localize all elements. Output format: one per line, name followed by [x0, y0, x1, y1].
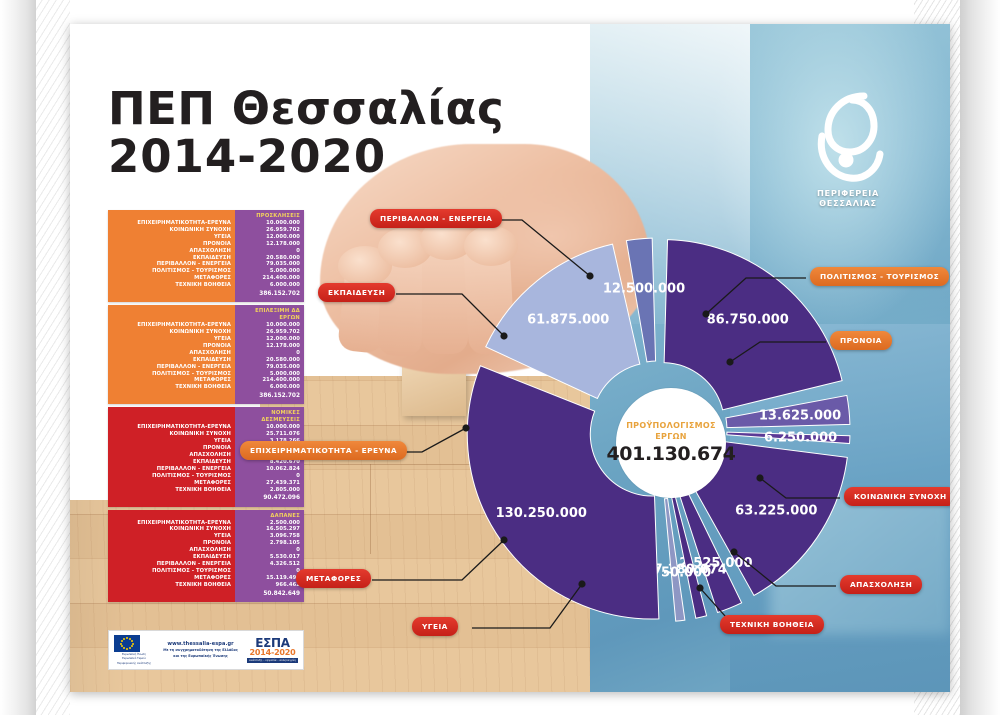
table-row-value: 10.000.000 — [238, 322, 300, 329]
table-header-spacer — [111, 513, 231, 520]
table-row-value: 25.711.076 — [238, 431, 300, 438]
region-logo-caption: ΠΕΡΙΦΕΡΕΙΑ ΘΕΣΣΑΛΙΑΣ — [788, 188, 908, 208]
callout-texniki-voitheia[interactable]: ΤΕΧΝΙΚΗ ΒΟΗΘΕΙΑ — [720, 615, 824, 634]
table-row-label: ΚΟΙΝΩΝΙΚΗ ΣΥΝΟΧΗ — [111, 526, 231, 533]
budget-table: ΕΠΙΧΕΙΡΗΜΑΤΙΚΟΤΗΤΑ-ΕΡΕΥΝΑΚΟΙΝΩΝΙΚΗ ΣΥΝΟΧ… — [108, 210, 304, 302]
eu-caption-1: Ευρωπαϊκή Ένωση — [114, 653, 154, 656]
table-value-column: ΕΠΙΛΕΞΙΜΗ ΔΔΕΡΓΩΝ10.000.00026.959.70212.… — [235, 305, 304, 404]
table-label-column: ΕΠΙΧΕΙΡΗΜΑΤΙΚΟΤΗΤΑ-ΕΡΕΥΝΑΚΟΙΝΩΝΙΚΗ ΣΥΝΟΧ… — [108, 407, 235, 506]
table-row-value: 0 — [238, 568, 300, 575]
table-row-label: ΜΕΤΑΦΟΡΕΣ — [111, 480, 231, 487]
table-label-column: ΕΠΙΧΕΙΡΗΜΑΤΙΚΟΤΗΤΑ-ΕΡΕΥΝΑΚΟΙΝΩΝΙΚΗ ΣΥΝΟΧ… — [108, 510, 235, 602]
callout-pronoia[interactable]: ΠΡΟΝΟΙΑ — [830, 331, 892, 350]
chart-center-hub: ΠΡΟΫΠΟΛΟΓΙΣΜΟΣ ΕΡΓΩΝ 401.130.674 — [616, 388, 726, 498]
table-row-value: 2.798.105 — [238, 540, 300, 547]
table-header-line2: ΕΡΓΩΝ — [238, 315, 300, 322]
table-row-label: ΠΟΛΙΤΙΣΜΟΣ - ΤΟΥΡΙΣΜΟΣ — [111, 268, 231, 275]
table-row-label: ΕΚΠΑΙΔΕΥΣΗ — [111, 554, 231, 561]
callout-apasxolisi[interactable]: ΑΠΑΣΧΟΛΗΣΗ — [840, 575, 922, 594]
poster-title: ΠΕΠ Θεσσαλίας 2014-2020 — [108, 86, 504, 181]
table-row-label: ΠΡΟΝΟΙΑ — [111, 540, 231, 547]
table-row-label: ΑΠΑΣΧΟΛΗΣΗ — [111, 452, 231, 459]
table-row-label: ΕΚΠΑΙΔΕΥΣΗ — [111, 357, 231, 364]
table-total-spacer — [111, 493, 231, 502]
center-label-line2: ΕΡΓΩΝ — [655, 432, 686, 443]
espa-logo: ΕΣΠΑ 2014-2020 ανάπτυξη - εργασία - αλλη… — [247, 637, 298, 663]
table-header-spacer — [111, 308, 231, 315]
eu-flag-star — [121, 640, 123, 642]
callout-epixeirimatikotita-erevna[interactable]: ΕΠΙΧΕΙΡΗΜΑΤΙΚΟΤΗΤΑ - ΕΡΕΥΝΑ — [240, 441, 407, 460]
table-header: ΔΑΠΑΝΕΣ — [238, 513, 300, 520]
table-row-value: 6.000.000 — [238, 282, 300, 289]
table-row-value: 16.505.297 — [238, 526, 300, 533]
table-row-label: ΕΚΠΑΙΔΕΥΣΗ — [111, 459, 231, 466]
table-row-value: 10.000.000 — [238, 220, 300, 227]
mat-left-hatch — [36, 0, 70, 715]
table-row-value: 20.580.000 — [238, 357, 300, 364]
table-row-label: ΕΠΙΧΕΙΡΗΜΑΤΙΚΟΤΗΤΑ-ΕΡΕΥΝΑ — [111, 322, 231, 329]
table-row-value: 12.178.000 — [238, 241, 300, 248]
table-row-label: ΠΕΡΙΒΑΛΛΟΝ - ΕΝΕΡΓΕΙΑ — [111, 261, 231, 268]
table-row-value: 214.400.000 — [238, 377, 300, 384]
espa-wordmark: ΕΣΠΑ — [247, 637, 298, 649]
table-row-label: ΑΠΑΣΧΟΛΗΣΗ — [111, 248, 231, 255]
table-row-label: ΕΚΠΑΙΔΕΥΣΗ — [111, 255, 231, 262]
table-row-label: ΠΟΛΙΤΙΣΜΟΣ - ΤΟΥΡΙΣΜΟΣ — [111, 371, 231, 378]
table-row-value: 214.400.000 — [238, 275, 300, 282]
table-total-value: 386.152.702 — [238, 391, 300, 400]
table-row-value: 26.959.702 — [238, 329, 300, 336]
table-row-value: 0 — [238, 350, 300, 357]
table-row-label: ΤΕΧΝΙΚΗ ΒΟΗΘΕΙΑ — [111, 384, 231, 391]
table-row-value: 5.000.000 — [238, 268, 300, 275]
pie-slice[interactable] — [467, 366, 659, 619]
table-row-label: ΠΟΛΙΤΙΣΜΟΣ - ΤΟΥΡΙΣΜΟΣ — [111, 568, 231, 575]
pie-slice-value: 13.625.000 — [759, 409, 841, 424]
table-row-value: 3.096.758 — [238, 533, 300, 540]
table-header: ΕΠΙΛΕΞΙΜΗ ΔΔ — [238, 308, 300, 315]
table-row-label: ΚΟΙΝΩΝΙΚΗ ΣΥΝΟΧΗ — [111, 227, 231, 234]
eu-flag-star — [123, 638, 125, 640]
callout-koinoniki-synoxi[interactable]: ΚΟΙΝΩΝΙΚΗ ΣΥΝΟΧΗ — [844, 487, 950, 506]
table-total-spacer — [111, 589, 231, 598]
mat-left-edge — [0, 0, 36, 715]
callout-ygeia[interactable]: ΥΓΕΙΑ — [412, 617, 458, 636]
budget-tables: ΕΠΙΧΕΙΡΗΜΑΤΙΚΟΤΗΤΑ-ΕΡΕΥΝΑΚΟΙΝΩΝΙΚΗ ΣΥΝΟΧ… — [108, 210, 304, 605]
wood-seam — [370, 464, 371, 554]
table-row-value: 10.000.000 — [238, 424, 300, 431]
table-row-label: ΠΕΡΙΒΑΛΛΟΝ - ΕΝΕΡΓΕΙΑ — [111, 561, 231, 568]
table-row-label: ΕΠΙΧΕΙΡΗΜΑΤΙΚΟΤΗΤΑ-ΕΡΕΥΝΑ — [111, 424, 231, 431]
pie-slice-value: 6.250.000 — [764, 431, 837, 446]
table-row-label: ΚΟΙΝΩΝΙΚΗ ΣΥΝΟΧΗ — [111, 329, 231, 336]
table-header-line2: ΔΕΣΜΕΥΣΕΙΣ — [238, 417, 300, 424]
pie-slice-value: 63.225.000 — [735, 504, 817, 519]
table-total-spacer — [111, 289, 231, 298]
table-row-label: ΜΕΤΑΦΟΡΕΣ — [111, 275, 231, 282]
table-row-value: 20.580.000 — [238, 255, 300, 262]
eu-flag-star — [132, 643, 134, 645]
table-row-label: ΠΡΟΝΟΙΑ — [111, 343, 231, 350]
table-header-spacer — [111, 417, 231, 424]
table-row-label: ΥΓΕΙΑ — [111, 438, 231, 445]
table-row-value: 12.000.000 — [238, 234, 300, 241]
region-logo: ΠΕΡΙΦΕΡΕΙΑ ΘΕΣΣΑΛΙΑΣ — [788, 90, 908, 210]
eu-flag-star — [131, 640, 133, 642]
table-label-column: ΕΠΙΧΕΙΡΗΜΑΤΙΚΟΤΗΤΑ-ΕΡΕΥΝΑΚΟΙΝΩΝΙΚΗ ΣΥΝΟΧ… — [108, 305, 235, 404]
table-row-label: ΚΟΙΝΩΝΙΚΗ ΣΥΝΟΧΗ — [111, 431, 231, 438]
table-row-label: ΜΕΤΑΦΟΡΕΣ — [111, 575, 231, 582]
table-row-label: ΕΠΙΧΕΙΡΗΜΑΤΙΚΟΤΗΤΑ-ΕΡΕΥΝΑ — [111, 220, 231, 227]
table-row-label: ΑΠΑΣΧΟΛΗΣΗ — [111, 350, 231, 357]
table-row-label: ΥΓΕΙΑ — [111, 533, 231, 540]
center-total-value: 401.130.674 — [606, 443, 735, 465]
table-row-value: 0 — [238, 248, 300, 255]
espa-years: 2014-2020 — [247, 649, 298, 657]
pie-slice-value: 61.875.000 — [527, 313, 609, 328]
table-row-label: ΤΕΧΝΙΚΗ ΒΟΗΘΕΙΑ — [111, 582, 231, 589]
table-row-label: ΥΓΕΙΑ — [111, 336, 231, 343]
title-line-1: ΠΕΠ Θεσσαλίας — [108, 86, 504, 131]
table-row-label: ΜΕΤΑΦΟΡΕΣ — [111, 377, 231, 384]
center-label-line1: ΠΡΟΫΠΟΛΟΓΙΣΜΟΣ — [626, 421, 716, 432]
table-row-value: 0 — [238, 473, 300, 480]
table-row-label: ΕΠΙΧΕΙΡΗΜΑΤΙΚΟΤΗΤΑ-ΕΡΕΥΝΑ — [111, 520, 231, 527]
budget-table: ΕΠΙΧΕΙΡΗΜΑΤΙΚΟΤΗΤΑ-ΕΡΕΥΝΑΚΟΙΝΩΝΙΚΗ ΣΥΝΟΧ… — [108, 305, 304, 404]
table-row-value: 5.000.000 — [238, 371, 300, 378]
eu-flag-star — [131, 645, 133, 647]
title-line-2: 2014-2020 — [108, 134, 504, 181]
table-row-label: ΑΠΑΣΧΟΛΗΣΗ — [111, 547, 231, 554]
table-row-value: 6.000.000 — [238, 384, 300, 391]
table-row-label: ΠΟΛΙΤΙΣΜΟΣ - ΤΟΥΡΙΣΜΟΣ — [111, 473, 231, 480]
eu-flag-star — [126, 648, 128, 650]
table-label-column: ΕΠΙΧΕΙΡΗΜΑΤΙΚΟΤΗΤΑ-ΕΡΕΥΝΑΚΟΙΝΩΝΙΚΗ ΣΥΝΟΧ… — [108, 210, 235, 302]
table-row-value: 27.439.371 — [238, 480, 300, 487]
footer-text-block: www.thessalia-espa.gr Με τη συγχρηματοδό… — [154, 641, 247, 658]
eu-flag-icon — [114, 635, 140, 652]
callout-ekpaidefsi[interactable]: ΕΚΠΑΙΔΕΥΣΗ — [318, 283, 395, 302]
table-total-value: 50.842.649 — [238, 589, 300, 598]
table-row-value: 4.326.512 — [238, 561, 300, 568]
table-row-label: ΠΡΟΝΟΙΑ — [111, 241, 231, 248]
table-total-spacer — [111, 391, 231, 400]
footer-subtitle-1: Με τη συγχρηματοδότηση της Ελλάδας — [154, 648, 247, 653]
table-header-spacer — [111, 315, 231, 322]
eu-caption-3: Περιφερειακής Ανάπτυξης — [114, 662, 154, 665]
budget-table: ΕΠΙΧΕΙΡΗΜΑΤΙΚΟΤΗΤΑ-ΕΡΕΥΝΑΚΟΙΝΩΝΙΚΗ ΣΥΝΟΧ… — [108, 510, 304, 602]
table-value-column: ΠΡΟΣΚΛΗΣΕΙΣ10.000.00026.959.70212.000.00… — [235, 210, 304, 302]
eu-logo: Ευρωπαϊκή Ένωση Ευρωπαϊκό Ταμείο Περιφερ… — [114, 635, 154, 665]
table-row-value: 0 — [238, 547, 300, 554]
eu-caption-2: Ευρωπαϊκό Ταμείο — [114, 657, 154, 660]
table-row-value: 79.035.000 — [238, 261, 300, 268]
eu-flag-star — [123, 647, 125, 649]
espa-tagline: ανάπτυξη - εργασία - αλληλεγγύη — [247, 658, 298, 663]
table-row-value: 5.530.017 — [238, 554, 300, 561]
table-row-value: 12.178.000 — [238, 343, 300, 350]
eu-flag-star — [129, 647, 131, 649]
table-row-value: 2.805.000 — [238, 487, 300, 494]
eu-flag-star — [126, 637, 128, 639]
eu-flag-star — [120, 643, 122, 645]
pie-slice-value: 12.500.000 — [603, 281, 685, 296]
table-total-value: 90.472.096 — [238, 493, 300, 502]
table-header: ΝΟΜΙΚΕΣ — [238, 410, 300, 417]
callout-politismos-tourismos[interactable]: ΠΟΛΙΤΙΣΜΟΣ - ΤΟΥΡΙΣΜΟΣ — [810, 267, 949, 286]
table-row-label: ΠΕΡΙΒΑΛΛΟΝ - ΕΝΕΡΓΕΙΑ — [111, 466, 231, 473]
funding-footer: Ευρωπαϊκή Ένωση Ευρωπαϊκό Ταμείο Περιφερ… — [108, 630, 304, 670]
table-row-value: 79.035.000 — [238, 364, 300, 371]
table-header-spacer — [111, 213, 231, 220]
footer-url[interactable]: www.thessalia-espa.gr — [154, 641, 247, 647]
table-total-value: 386.152.702 — [238, 289, 300, 298]
table-row-value: 2.500.000 — [238, 520, 300, 527]
pie-slice-value: 130.250.000 — [496, 506, 587, 521]
region-theta-logo-icon — [802, 90, 894, 186]
mat-right-edge — [960, 0, 1000, 715]
table-header: ΠΡΟΣΚΛΗΣΕΙΣ — [238, 213, 300, 220]
table-row-value: 12.000.000 — [238, 336, 300, 343]
callout-perivallon-energeia[interactable]: ΠΕΡΙΒΑΛΛΟΝ - ΕΝΕΡΓΕΙΑ — [370, 209, 502, 228]
table-row-label: ΥΓΕΙΑ — [111, 234, 231, 241]
pie-slice-value: 86.750.000 — [707, 312, 789, 327]
table-row-value: 10.062.824 — [238, 466, 300, 473]
table-row-label: ΠΡΟΝΟΙΑ — [111, 445, 231, 452]
table-header-spacer — [111, 410, 231, 417]
callout-metafores[interactable]: ΜΕΤΑΦΟΡΕΣ — [296, 569, 371, 588]
table-row-label: ΤΕΧΝΙΚΗ ΒΟΗΘΕΙΑ — [111, 282, 231, 289]
table-row-value: 966.462 — [238, 582, 300, 589]
table-row-label: ΠΕΡΙΒΑΛΛΟΝ - ΕΝΕΡΓΕΙΑ — [111, 364, 231, 371]
table-row-value: 15.119.498 — [238, 575, 300, 582]
footer-subtitle-2: και της Ευρωπαϊκής Ένωσης — [154, 654, 247, 659]
table-row-label: ΤΕΧΝΙΚΗ ΒΟΗΘΕΙΑ — [111, 487, 231, 494]
table-value-column: ΔΑΠΑΝΕΣ2.500.00016.505.2973.096.7582.798… — [235, 510, 304, 602]
table-row-value: 26.959.702 — [238, 227, 300, 234]
infographic-poster-stage: ΠΕΠ Θεσσαλίας 2014-2020 ΠΕΡΙΦΕΡΕΙΑ ΘΕΣΣΑ… — [0, 0, 1000, 715]
poster-canvas: ΠΕΠ Θεσσαλίας 2014-2020 ΠΕΡΙΦΕΡΕΙΑ ΘΕΣΣΑ… — [70, 24, 950, 692]
